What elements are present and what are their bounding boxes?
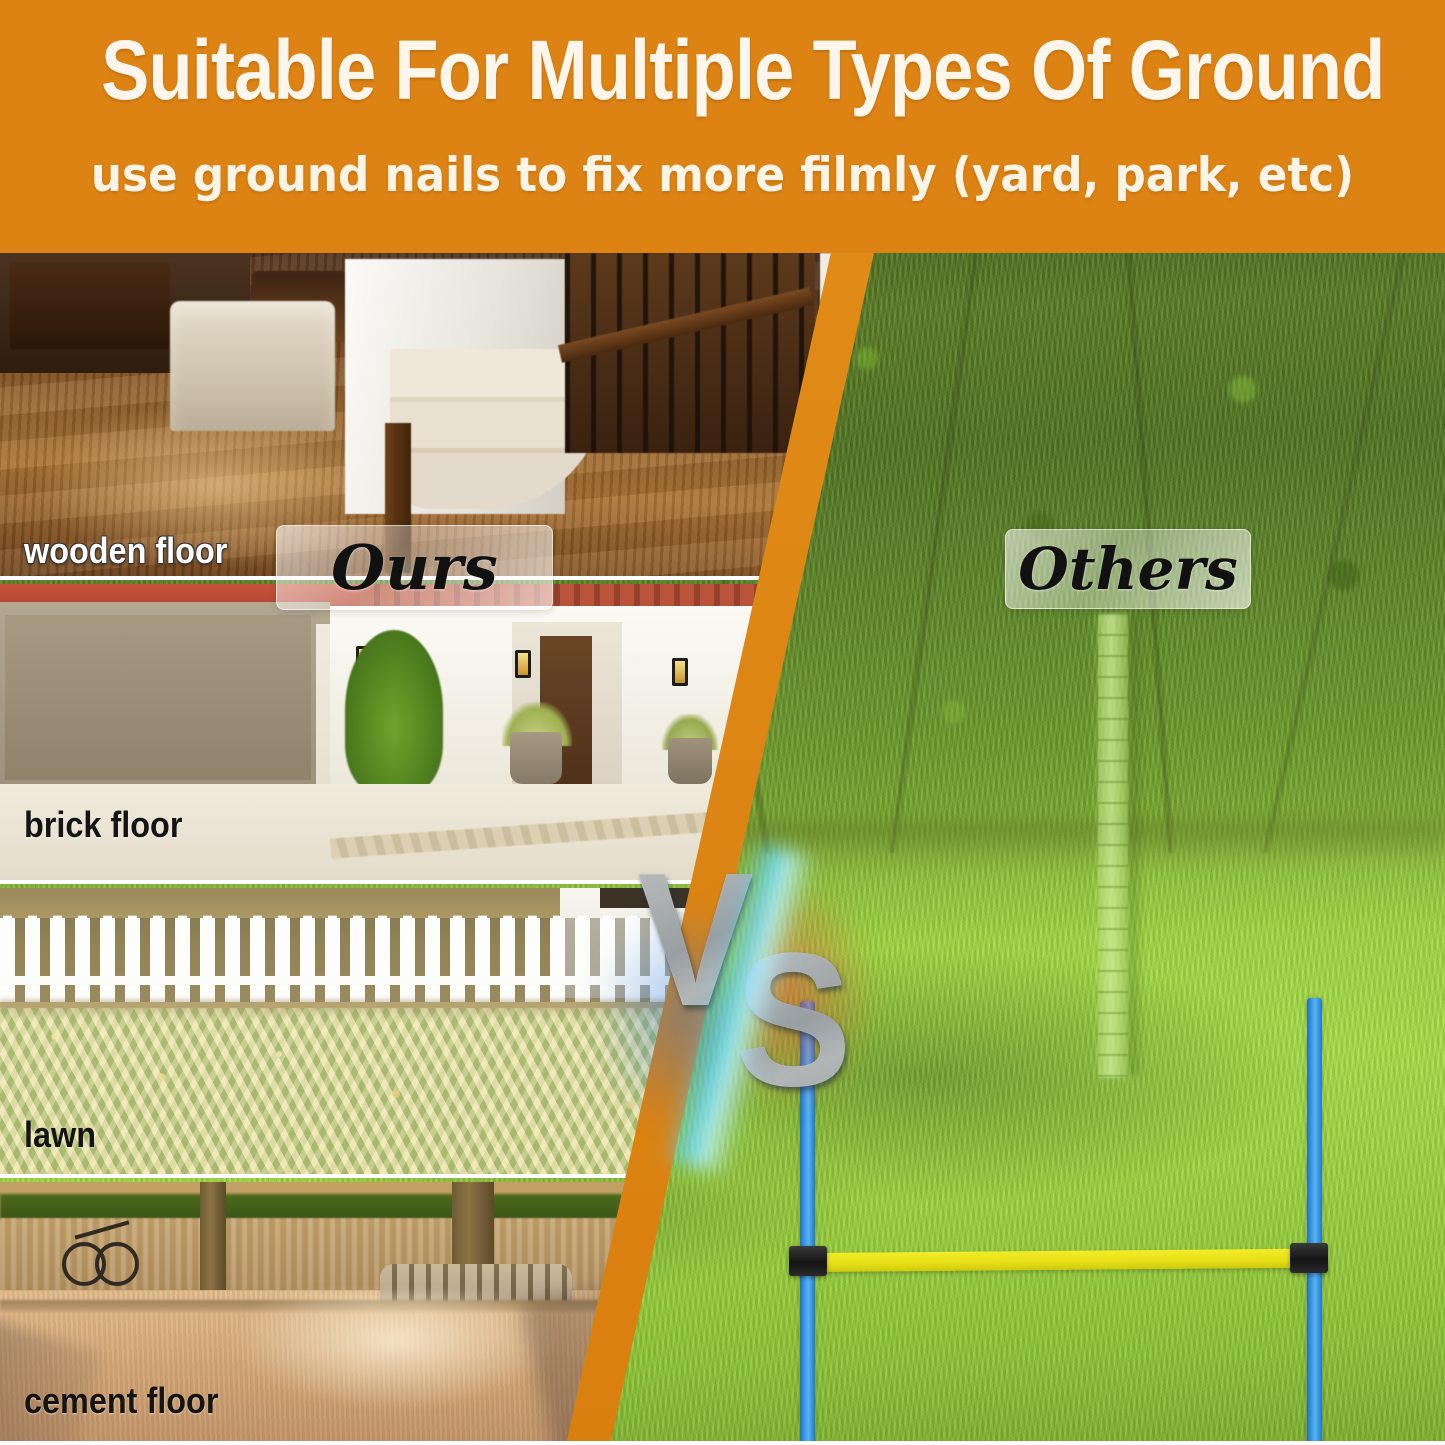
interior-furniture bbox=[10, 263, 170, 349]
armchair bbox=[170, 301, 335, 431]
blue-pole-right bbox=[1307, 998, 1322, 1445]
yellow-crossbar bbox=[812, 1249, 1309, 1272]
garage-door bbox=[0, 610, 316, 785]
comparison-stage: wooden floor brick floor bbox=[0, 253, 1445, 1445]
bicycle-wheel bbox=[95, 1242, 139, 1286]
vs-graphic: V S bbox=[612, 863, 872, 1153]
wall-lantern-icon bbox=[515, 650, 531, 678]
badge-ours: Ours bbox=[276, 525, 553, 610]
page-title: Suitable For Multiple Types Of Ground bbox=[101, 24, 1344, 116]
shrub bbox=[345, 630, 443, 792]
bridge-column bbox=[200, 1182, 226, 1290]
cast-shadow bbox=[0, 1310, 103, 1445]
crossbar-clip-right bbox=[1290, 1243, 1328, 1273]
header-banner: Suitable For Multiple Types Of Ground us… bbox=[0, 0, 1445, 253]
caption-wooden-floor: wooden floor bbox=[24, 531, 227, 571]
badge-others-label: Others bbox=[1018, 535, 1238, 603]
crossbar-clip-left bbox=[789, 1246, 827, 1276]
planter-pot bbox=[668, 738, 712, 784]
badge-others: Others bbox=[1005, 529, 1251, 609]
caption-lawn: lawn bbox=[24, 1115, 96, 1155]
page-subtitle: use ground nails to fix more filmly (yar… bbox=[51, 148, 1395, 204]
caption-cement-floor: cement floor bbox=[24, 1381, 218, 1421]
bottom-edge bbox=[0, 1441, 1445, 1445]
planter-pot bbox=[510, 732, 562, 784]
caption-brick-floor: brick floor bbox=[24, 805, 182, 845]
green-ladder-pole bbox=[1098, 613, 1128, 1078]
badge-ours-label: Ours bbox=[331, 531, 498, 604]
sun-glare bbox=[230, 1292, 560, 1412]
ladder-pole-shadow bbox=[1128, 615, 1144, 1075]
wall-lantern-icon bbox=[672, 658, 688, 686]
